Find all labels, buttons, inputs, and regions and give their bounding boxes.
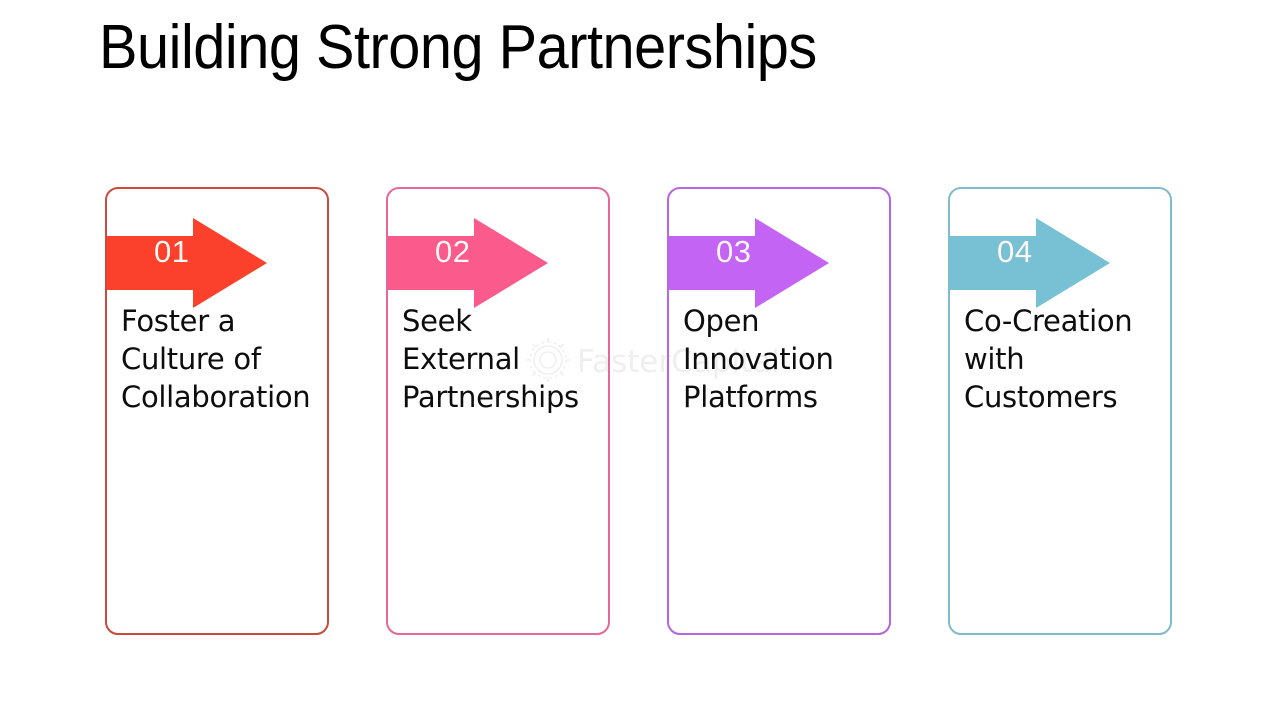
- step-number-04: 04: [997, 236, 1032, 267]
- page-title: Building Strong Partnerships: [99, 12, 817, 84]
- step-text-03: Open Innovation Platforms: [683, 302, 891, 416]
- step-text-04: Co-Creation with Customers: [964, 302, 1172, 416]
- step-card-04[interactable]: 04 Co-Creation with Customers: [948, 187, 1172, 635]
- step-card-02[interactable]: 02 Seek External Partnerships: [386, 187, 610, 635]
- step-text-01: Foster a Culture of Collaboration: [121, 302, 329, 416]
- step-card-03[interactable]: 03 Open Innovation Platforms: [667, 187, 891, 635]
- step-number-02: 02: [435, 236, 470, 267]
- slide-canvas: Building Strong Partnerships FasterCapit…: [0, 0, 1280, 720]
- step-card-01[interactable]: 01 Foster a Culture of Collaboration: [105, 187, 329, 635]
- step-number-01: 01: [154, 236, 189, 267]
- step-number-03: 03: [716, 236, 751, 267]
- step-text-02: Seek External Partnerships: [402, 302, 610, 416]
